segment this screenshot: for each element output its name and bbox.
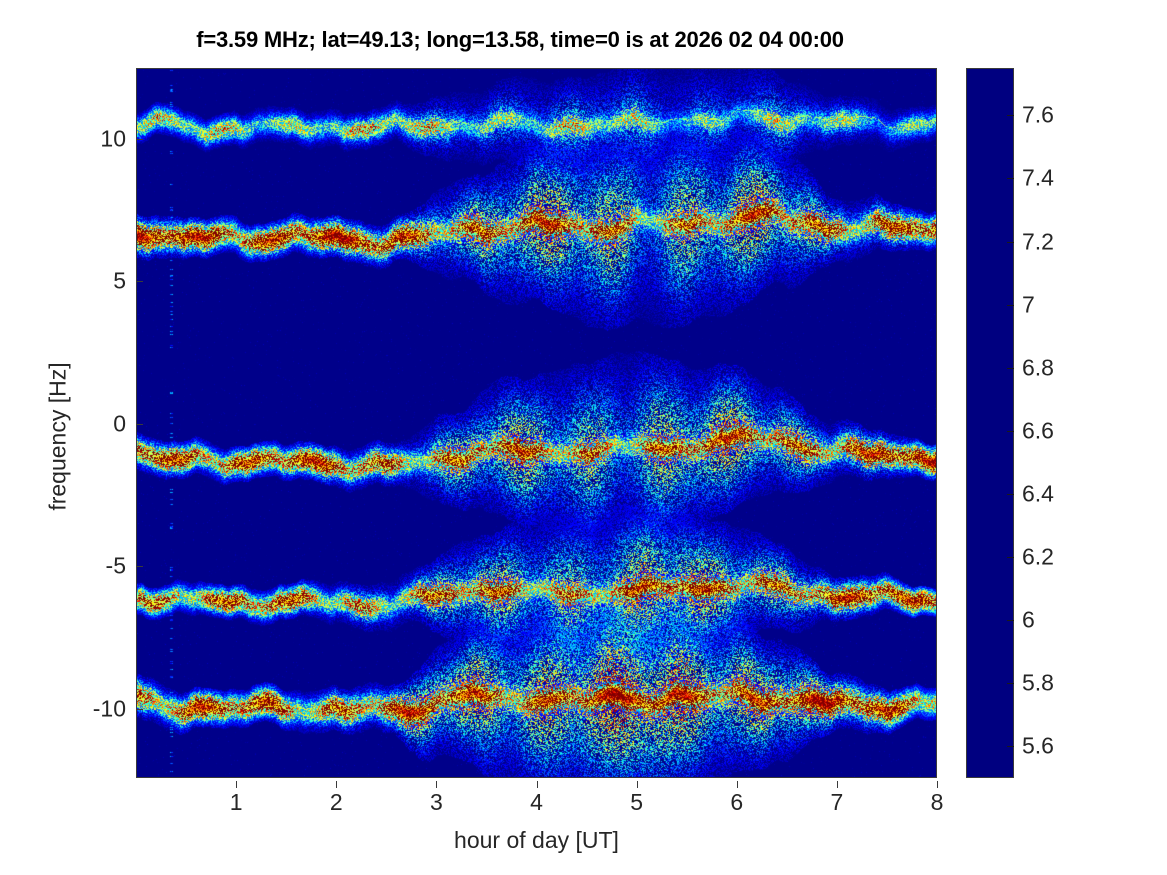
y-tick-label-2: 0 (66, 410, 126, 437)
colorbar-tick-label-8: 7.2 (1022, 228, 1054, 255)
y-tick-mark-4 (136, 709, 143, 710)
colorbar-tick-mark-1 (1007, 683, 1014, 684)
colorbar-tick-mark-8 (1007, 242, 1014, 243)
spectrogram-plot[interactable] (136, 68, 937, 778)
x-tick-mark-1 (336, 781, 337, 788)
x-tick-mark-6 (837, 781, 838, 788)
x-tick-label-0: 1 (206, 789, 266, 816)
colorbar-tick-label-0: 5.6 (1022, 733, 1054, 760)
colorbar-tick-label-5: 6.6 (1022, 417, 1054, 444)
colorbar-tick-label-9: 7.4 (1022, 165, 1054, 192)
colorbar-tick-label-3: 6.2 (1022, 544, 1054, 571)
x-tick-mark-7 (937, 781, 938, 788)
colorbar-tick-mark-5 (1007, 431, 1014, 432)
colorbar-tick-label-10: 7.6 (1022, 102, 1054, 129)
colorbar-tick-label-6: 6.8 (1022, 354, 1054, 381)
colorbar-ticks: 5.65.866.26.46.66.877.27.47.6 (966, 68, 1076, 778)
colorbar-tick-mark-7 (1007, 305, 1014, 306)
colorbar-tick-mark-0 (1007, 746, 1014, 747)
x-axis: 12345678 (0, 789, 1167, 829)
y-tick-label-0: 10 (66, 125, 126, 152)
colorbar-tick-mark-10 (1007, 115, 1014, 116)
colorbar-tick-mark-4 (1007, 494, 1014, 495)
x-tick-mark-5 (737, 781, 738, 788)
colorbar-tick-label-2: 6 (1022, 607, 1035, 634)
y-tick-label-1: 5 (66, 268, 126, 295)
x-tick-label-5: 6 (707, 789, 767, 816)
colorbar-tick-mark-9 (1007, 178, 1014, 179)
x-tick-label-4: 5 (607, 789, 667, 816)
y-tick-mark-1 (136, 281, 143, 282)
colorbar-tick-mark-3 (1007, 557, 1014, 558)
x-tick-mark-4 (637, 781, 638, 788)
colorbar-tick-mark-2 (1007, 620, 1014, 621)
x-tick-label-6: 7 (807, 789, 867, 816)
colorbar-tick-label-7: 7 (1022, 291, 1035, 318)
x-tick-label-7: 8 (907, 789, 967, 816)
y-tick-label-3: -5 (66, 553, 126, 580)
colorbar-tick-mark-6 (1007, 368, 1014, 369)
figure-root: f=3.59 MHz; lat=49.13; long=13.58, time=… (0, 0, 1167, 875)
colorbar-tick-label-4: 6.4 (1022, 481, 1054, 508)
x-tick-label-2: 3 (406, 789, 466, 816)
spectrogram-image (137, 69, 937, 778)
y-tick-label-4: -10 (66, 695, 126, 722)
y-tick-mark-2 (136, 424, 143, 425)
x-tick-label-3: 4 (507, 789, 567, 816)
colorbar-tick-label-1: 5.8 (1022, 670, 1054, 697)
x-tick-label-1: 2 (306, 789, 366, 816)
x-tick-mark-0 (236, 781, 237, 788)
page-title: f=3.59 MHz; lat=49.13; long=13.58, time=… (0, 27, 1040, 53)
x-axis-label: hour of day [UT] (136, 827, 937, 854)
y-tick-mark-0 (136, 139, 143, 140)
y-axis-label: frequency [Hz] (45, 307, 72, 567)
y-tick-mark-3 (136, 566, 143, 567)
x-tick-mark-3 (537, 781, 538, 788)
x-tick-mark-2 (436, 781, 437, 788)
